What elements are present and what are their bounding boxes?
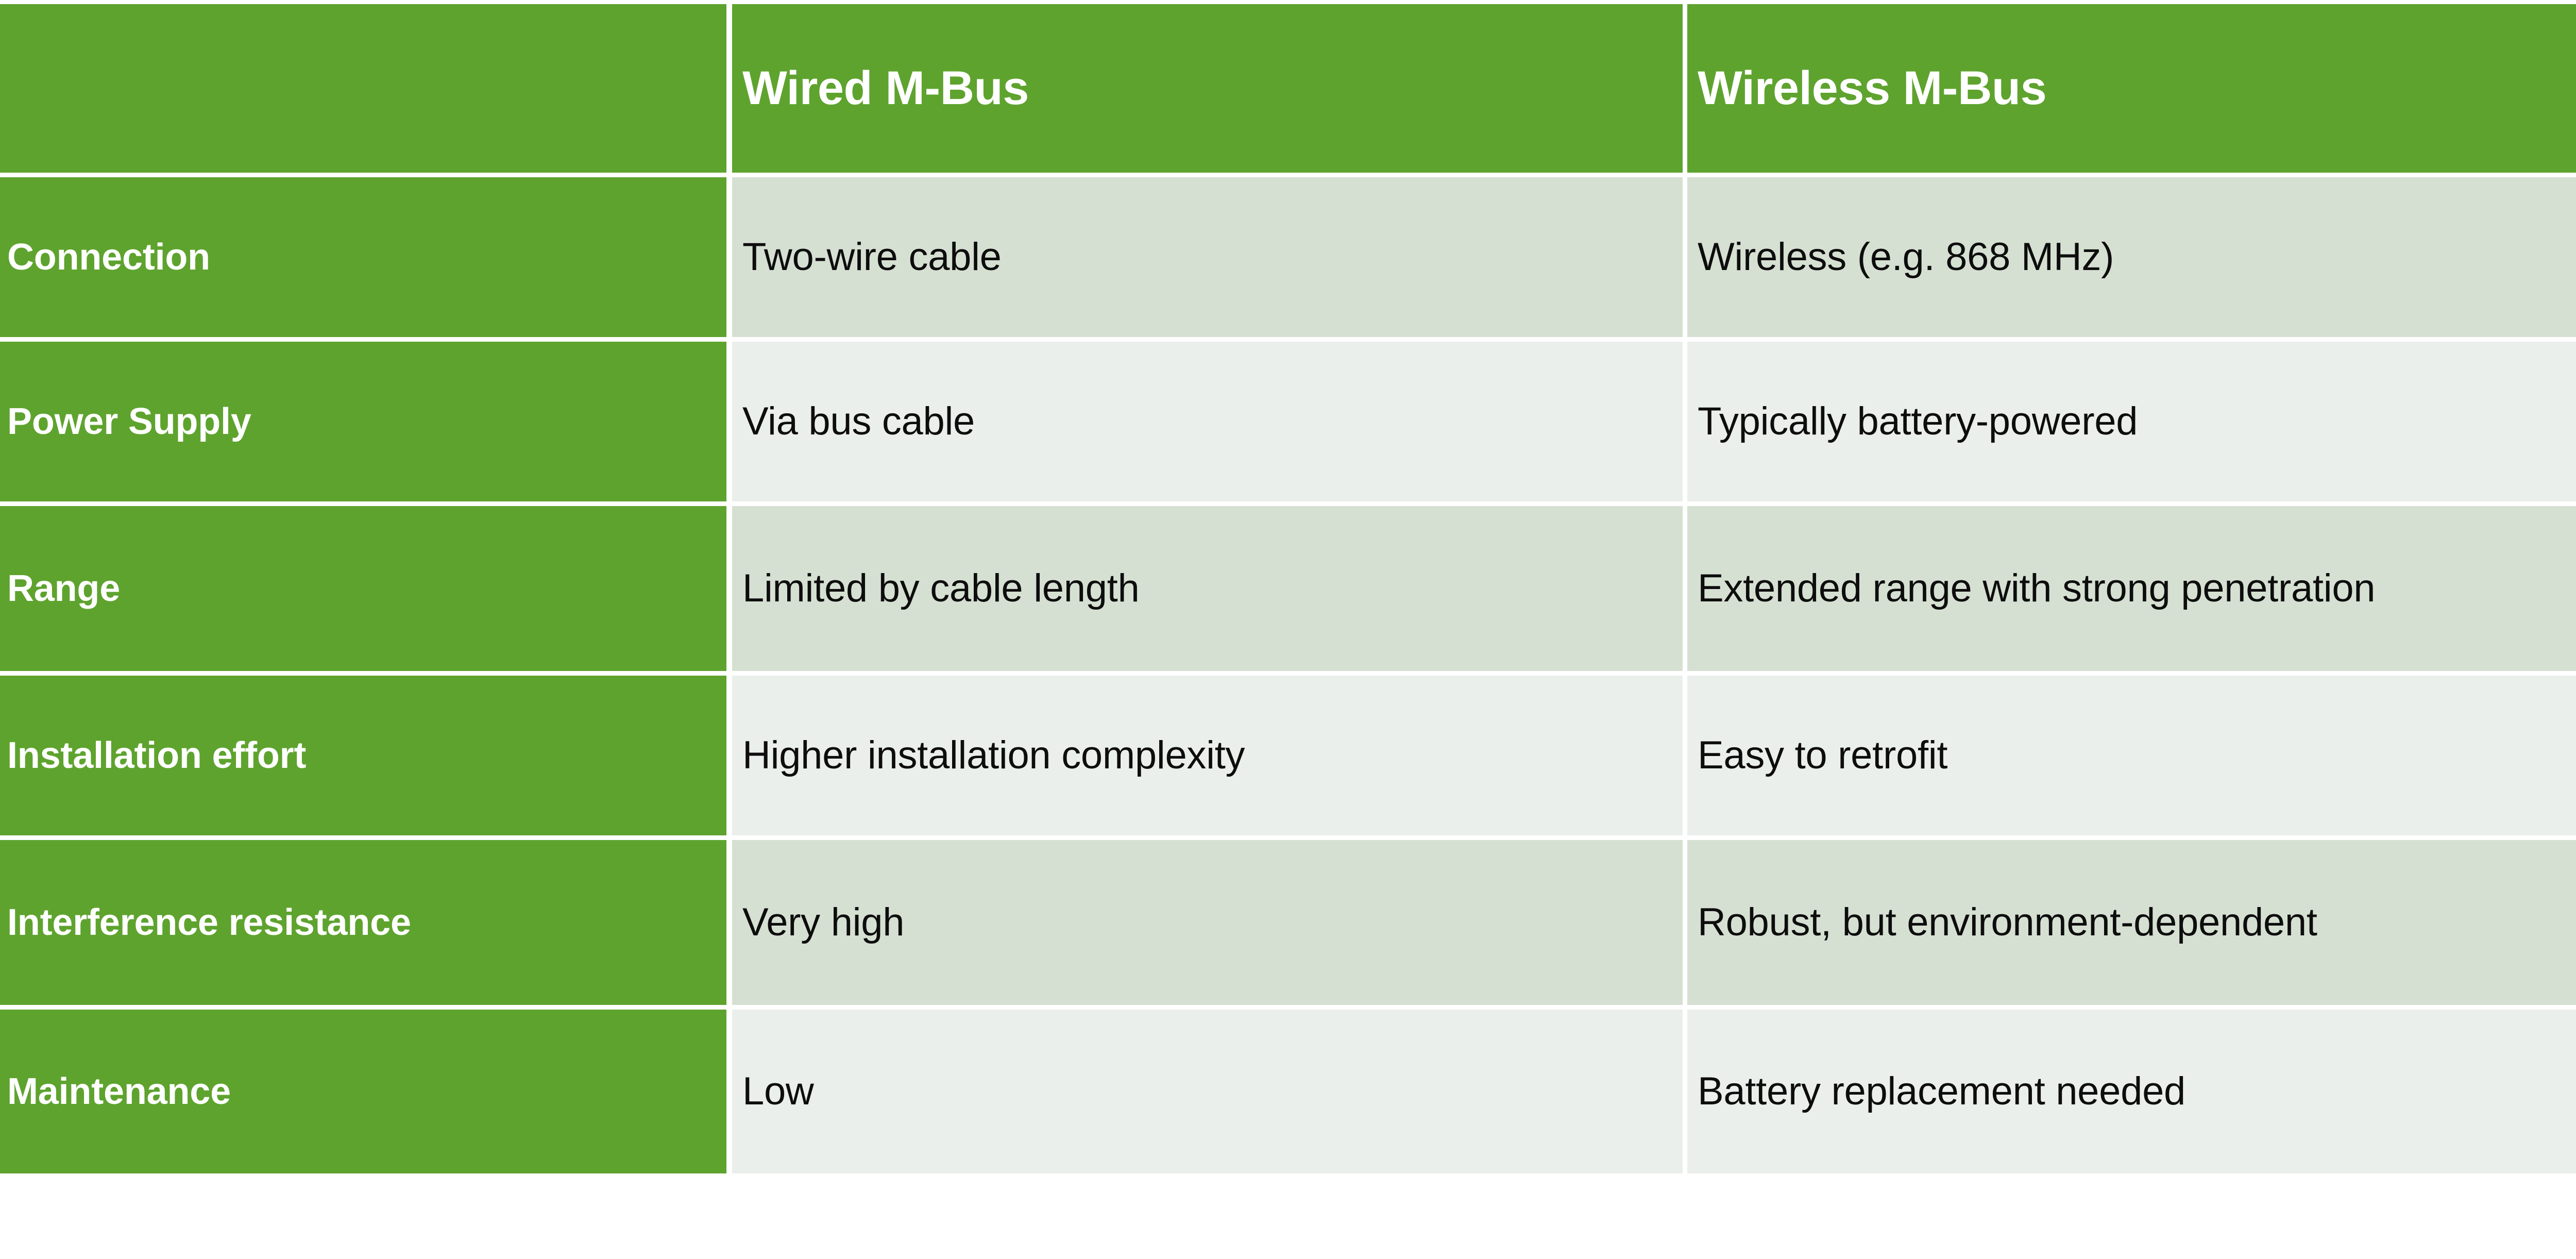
row-value-power-supply-wireless: Typically battery-powered [1687,342,2576,501]
row-value-connection-wired: Two-wire cable [732,177,1683,337]
row-value-interference-resistance-wireless: Robust, but environment-dependent [1687,840,2576,1005]
header-cell-attribute [0,4,726,173]
row-label-power-supply: Power Supply [0,342,726,501]
table-row: Range Limited by cable length Extended r… [0,506,2576,671]
table-row: Installation effort Higher installation … [0,676,2576,835]
row-value-power-supply-wired: Via bus cable [732,342,1683,501]
header-cell-wired: Wired M-Bus [732,4,1683,173]
row-value-range-wireless: Extended range with strong penetration [1687,506,2576,671]
row-label-range: Range [0,506,726,671]
table-header-row: Wired M-Bus Wireless M-Bus [0,4,2576,173]
row-label-maintenance: Maintenance [0,1010,726,1173]
header-label-wireless: Wireless M-Bus [1698,63,2576,113]
table-row: Power Supply Via bus cable Typically bat… [0,342,2576,501]
row-value-connection-wireless: Wireless (e.g. 868 MHz) [1687,177,2576,337]
row-label-connection: Connection [0,177,726,337]
row-value-maintenance-wireless: Battery replacement needed [1687,1010,2576,1173]
row-value-installation-effort-wired: Higher installation complexity [732,676,1683,835]
row-label-interference-resistance: Interference resistance [0,840,726,1005]
table-row: Interference resistance Very high Robust… [0,840,2576,1005]
header-label-wired: Wired M-Bus [742,63,1672,113]
row-value-maintenance-wired: Low [732,1010,1683,1173]
row-value-interference-resistance-wired: Very high [732,840,1683,1005]
row-label-installation-effort: Installation effort [0,676,726,835]
header-cell-wireless: Wireless M-Bus [1687,4,2576,173]
table-row: Connection Two-wire cable Wireless (e.g.… [0,177,2576,337]
row-value-installation-effort-wireless: Easy to retrofit [1687,676,2576,835]
row-value-range-wired: Limited by cable length [732,506,1683,671]
comparison-table: Wired M-Bus Wireless M-Bus Connection Tw… [0,0,2576,1259]
table-row: Maintenance Low Battery replacement need… [0,1010,2576,1173]
